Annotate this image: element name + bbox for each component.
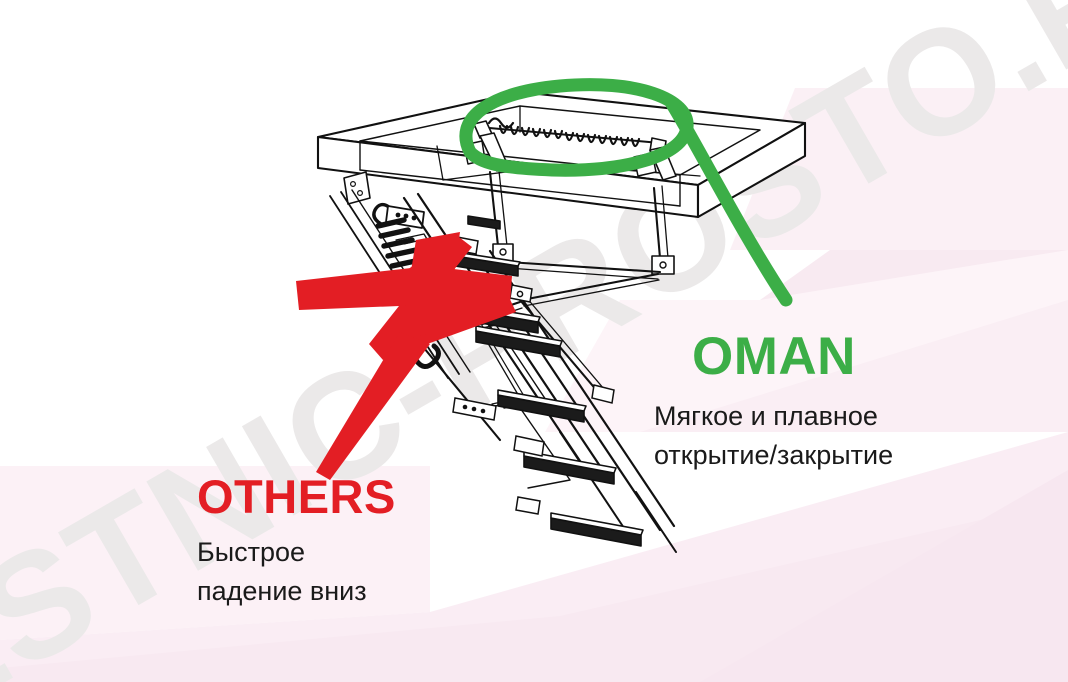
others-description-line-1: Быстрое bbox=[197, 533, 396, 572]
oman-description-line-1: Мягкое и плавное bbox=[654, 397, 893, 436]
red-arrow-tail bbox=[316, 332, 430, 480]
red-arrow-wing-left bbox=[296, 267, 424, 310]
others-brand-title: OTHERS bbox=[197, 473, 396, 520]
oman-callout: OMAN Мягкое и плавное открытие/закрытие bbox=[692, 330, 893, 475]
others-description: Быстрое падение вниз bbox=[197, 533, 396, 611]
oman-description-line-2: открытие/закрытие bbox=[654, 436, 893, 475]
others-description-line-2: падение вниз bbox=[197, 572, 396, 611]
red-annotation-layer bbox=[0, 0, 1068, 682]
others-callout: OTHERS Быстрое падение вниз bbox=[197, 473, 396, 611]
oman-brand-title: OMAN bbox=[692, 330, 893, 383]
oman-description: Мягкое и плавное открытие/закрытие bbox=[654, 397, 893, 475]
illustration-canvas: LESTNIC-PROSTO.RU bbox=[0, 0, 1068, 682]
red-arrow-down-left bbox=[296, 232, 516, 480]
